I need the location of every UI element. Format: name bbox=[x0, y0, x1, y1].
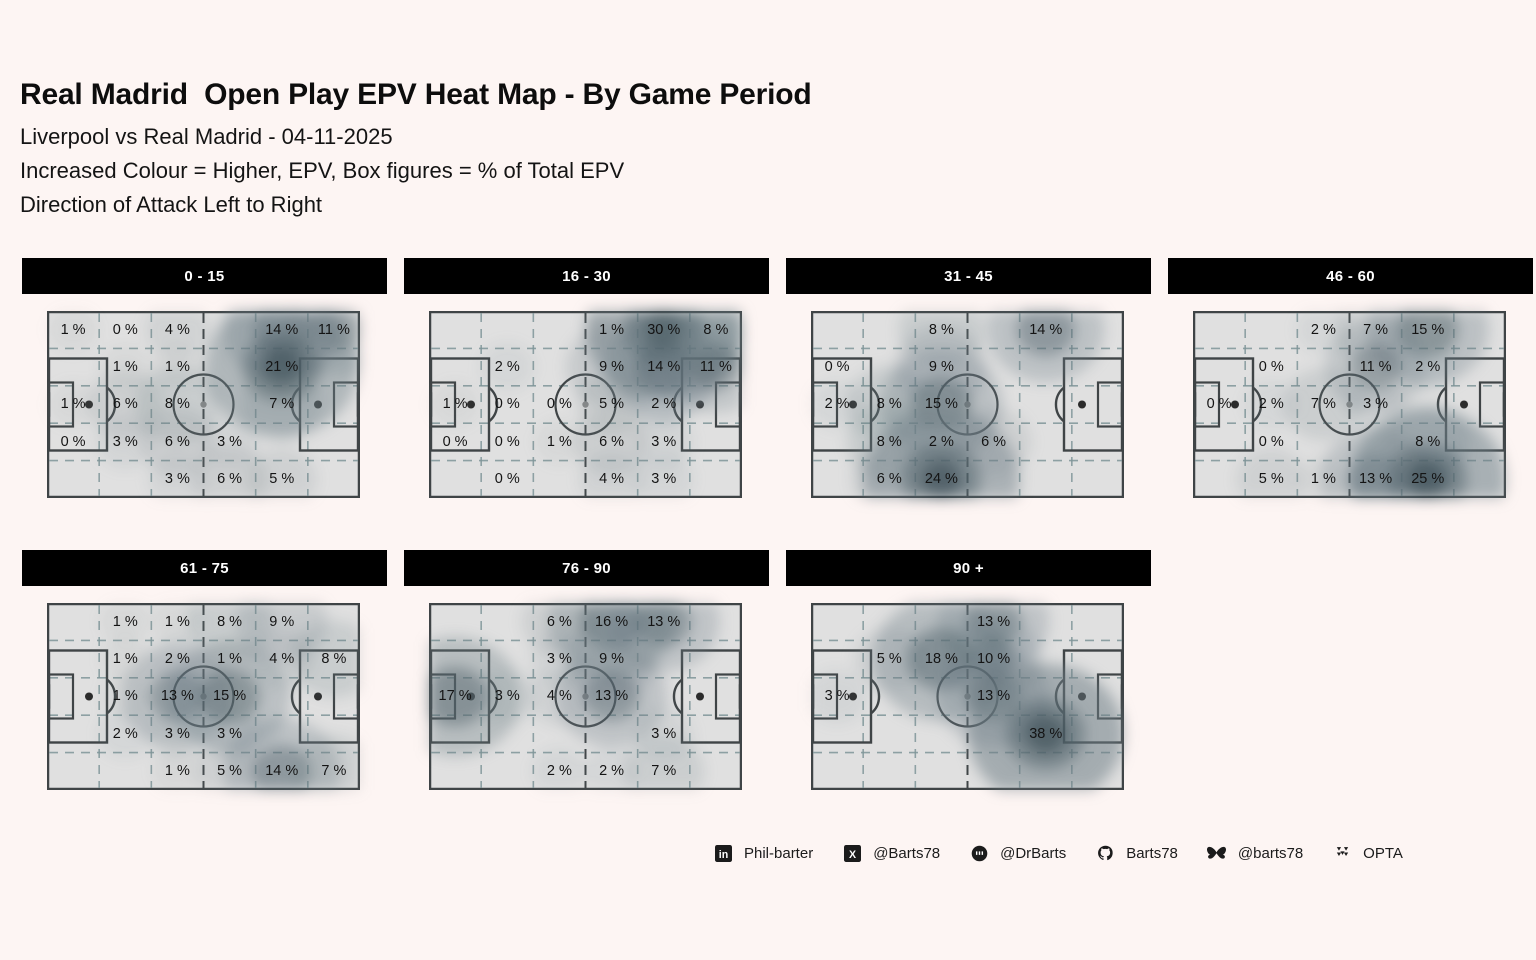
heatmap-panel: 31 - 458 %14 %0 %9 %2 %8 %15 %8 %2 %6 %6… bbox=[786, 258, 1151, 542]
footer-credit-label: Barts78 bbox=[1126, 845, 1178, 862]
epv-value-grid: 1 %0 %4 %14 %11 %1 %1 %21 %1 %6 %8 %7 %0… bbox=[47, 311, 360, 498]
epv-cell: 2 % bbox=[638, 386, 690, 423]
epv-cell: 1 % bbox=[99, 603, 151, 640]
epv-cell: 9 % bbox=[586, 348, 638, 385]
panel-period-banner: 31 - 45 bbox=[786, 258, 1151, 294]
epv-cell: 6 % bbox=[968, 423, 1020, 460]
epv-cell bbox=[690, 715, 742, 752]
epv-cell: 1 % bbox=[1297, 461, 1349, 498]
heatmap-panel: 61 - 751 %1 %8 %9 %1 %2 %1 %4 %8 %1 %13 … bbox=[22, 550, 387, 834]
epv-cell bbox=[308, 348, 360, 385]
epv-cell bbox=[811, 423, 863, 460]
epv-cell bbox=[429, 311, 481, 348]
page-title: Real Madrid Open Play EPV Heat Map - By … bbox=[20, 78, 812, 112]
epv-cell bbox=[1402, 386, 1454, 423]
epv-cell bbox=[429, 461, 481, 498]
epv-cell bbox=[968, 311, 1020, 348]
panel-period-banner: 90 + bbox=[786, 550, 1151, 586]
epv-cell bbox=[47, 640, 99, 677]
epv-cell: 14 % bbox=[256, 753, 308, 790]
epv-cell: 3 % bbox=[811, 678, 863, 715]
panel-row-2: 61 - 751 %1 %8 %9 %1 %2 %1 %4 %8 %1 %13 … bbox=[0, 550, 1536, 842]
epv-cell bbox=[204, 311, 256, 348]
epv-cell bbox=[863, 311, 915, 348]
epv-cell bbox=[308, 386, 360, 423]
epv-cell bbox=[1193, 423, 1245, 460]
epv-cell bbox=[1020, 678, 1072, 715]
epv-cell bbox=[690, 678, 742, 715]
epv-cell bbox=[1072, 423, 1124, 460]
epv-cell bbox=[308, 461, 360, 498]
epv-cell bbox=[533, 715, 585, 752]
epv-cell bbox=[429, 348, 481, 385]
epv-cell bbox=[204, 386, 256, 423]
footer-credit-item[interactable]: @barts78 bbox=[1204, 845, 1329, 862]
panel-row-1: 0 - 151 %0 %4 %14 %11 %1 %1 %21 %1 %6 %8… bbox=[0, 258, 1536, 550]
epv-cell bbox=[811, 311, 863, 348]
epv-cell: 13 % bbox=[968, 603, 1020, 640]
pitch-container: 8 %14 %0 %9 %2 %8 %15 %8 %2 %6 %6 %24 % bbox=[786, 294, 1151, 542]
epv-cell: 2 % bbox=[811, 386, 863, 423]
epv-cell bbox=[1454, 348, 1506, 385]
epv-cell: 1 % bbox=[99, 640, 151, 677]
footer-credit-label: @barts78 bbox=[1238, 845, 1303, 862]
epv-cell: 3 % bbox=[481, 678, 533, 715]
epv-cell: 3 % bbox=[638, 423, 690, 460]
epv-cell bbox=[1454, 386, 1506, 423]
epv-cell bbox=[586, 715, 638, 752]
epv-cell bbox=[811, 461, 863, 498]
linkedin-icon: in bbox=[710, 845, 736, 862]
epv-value-grid: 2 %7 %15 %0 %11 %2 %0 %2 %7 %3 %0 %8 %5 … bbox=[1193, 311, 1506, 498]
epv-cell bbox=[863, 603, 915, 640]
epv-cell: 1 % bbox=[204, 640, 256, 677]
epv-cell: 5 % bbox=[863, 640, 915, 677]
epv-cell bbox=[915, 678, 967, 715]
epv-cell: 0 % bbox=[811, 348, 863, 385]
epv-cell bbox=[533, 348, 585, 385]
epv-cell: 15 % bbox=[204, 678, 256, 715]
pitch-container: 1 %30 %8 %2 %9 %14 %11 %1 %0 %0 %5 %2 %0… bbox=[404, 294, 769, 542]
epv-cell bbox=[308, 423, 360, 460]
epv-cell: 1 % bbox=[99, 348, 151, 385]
epv-cell bbox=[1072, 603, 1124, 640]
epv-cell bbox=[811, 753, 863, 790]
epv-cell: 1 % bbox=[429, 386, 481, 423]
bluesky-butterfly-icon bbox=[1204, 846, 1230, 862]
page-header: Real Madrid Open Play EPV Heat Map - By … bbox=[20, 78, 812, 222]
github-icon bbox=[1092, 845, 1118, 862]
epv-cell bbox=[968, 715, 1020, 752]
subtitle-direction: Direction of Attack Left to Right bbox=[20, 188, 812, 222]
epv-cell: 4 % bbox=[151, 311, 203, 348]
epv-cell: 0 % bbox=[1245, 348, 1297, 385]
epv-value-grid: 8 %14 %0 %9 %2 %8 %15 %8 %2 %6 %6 %24 % bbox=[811, 311, 1124, 498]
epv-cell bbox=[308, 715, 360, 752]
footer-credit-item[interactable]: OPTA bbox=[1329, 845, 1403, 862]
epv-cell: 1 % bbox=[586, 311, 638, 348]
epv-cell: 0 % bbox=[429, 423, 481, 460]
epv-cell: 18 % bbox=[915, 640, 967, 677]
epv-cell: 1 % bbox=[47, 386, 99, 423]
epv-cell bbox=[863, 348, 915, 385]
epv-cell: 9 % bbox=[256, 603, 308, 640]
epv-cell bbox=[47, 603, 99, 640]
pitch-container: 1 %1 %8 %9 %1 %2 %1 %4 %8 %1 %13 %15 %2 … bbox=[22, 586, 387, 834]
epv-cell bbox=[256, 423, 308, 460]
epv-cell: 1 % bbox=[151, 603, 203, 640]
epv-cell bbox=[204, 348, 256, 385]
epv-cell: 8 % bbox=[690, 311, 742, 348]
epv-cell: 13 % bbox=[586, 678, 638, 715]
epv-cell bbox=[638, 678, 690, 715]
epv-cell: 24 % bbox=[915, 461, 967, 498]
epv-cell: 2 % bbox=[1297, 311, 1349, 348]
epv-cell bbox=[811, 603, 863, 640]
epv-cell bbox=[1297, 348, 1349, 385]
epv-cell: 9 % bbox=[915, 348, 967, 385]
epv-cell: 13 % bbox=[968, 678, 1020, 715]
epv-cell bbox=[1193, 461, 1245, 498]
epv-cell bbox=[481, 640, 533, 677]
epv-cell: 1 % bbox=[99, 678, 151, 715]
epv-cell: 11 % bbox=[690, 348, 742, 385]
subtitle-match: Liverpool vs Real Madrid - 04-11-2025 bbox=[20, 120, 812, 154]
epv-cell: 0 % bbox=[481, 386, 533, 423]
epv-cell: 7 % bbox=[1350, 311, 1402, 348]
epv-cell: 2 % bbox=[99, 715, 151, 752]
footer-credit-item[interactable]: Barts78 bbox=[1092, 845, 1204, 862]
epv-cell bbox=[690, 461, 742, 498]
epv-cell: 14 % bbox=[1020, 311, 1072, 348]
epv-cell bbox=[811, 640, 863, 677]
epv-cell: 6 % bbox=[99, 386, 151, 423]
epv-cell: 3 % bbox=[204, 423, 256, 460]
epv-cell: 15 % bbox=[915, 386, 967, 423]
epv-cell: 0 % bbox=[47, 423, 99, 460]
heatmap-panel-grid: 0 - 151 %0 %4 %14 %11 %1 %1 %21 %1 %6 %8… bbox=[0, 258, 1536, 842]
heatmap-panel: 90 +13 %5 %18 %10 %3 %13 %38 % bbox=[786, 550, 1151, 834]
epv-cell: 13 % bbox=[1350, 461, 1402, 498]
epv-cell bbox=[915, 753, 967, 790]
epv-cell: 11 % bbox=[308, 311, 360, 348]
epv-cell bbox=[99, 753, 151, 790]
epv-cell: 13 % bbox=[638, 603, 690, 640]
epv-cell: 5 % bbox=[1245, 461, 1297, 498]
pitch-container: 1 %0 %4 %14 %11 %1 %1 %21 %1 %6 %8 %7 %0… bbox=[22, 294, 387, 542]
epv-cell: 1 % bbox=[533, 423, 585, 460]
epv-cell: 9 % bbox=[586, 640, 638, 677]
footer-credits: inPhil-barterX@Barts78@DrBartsBarts78@ba… bbox=[710, 845, 1403, 862]
epv-cell bbox=[1072, 311, 1124, 348]
subtitle-legend: Increased Colour = Higher, EPV, Box figu… bbox=[20, 154, 812, 188]
epv-cell bbox=[308, 678, 360, 715]
epv-cell bbox=[1020, 753, 1072, 790]
epv-cell bbox=[968, 386, 1020, 423]
epv-cell bbox=[1454, 423, 1506, 460]
epv-cell bbox=[429, 603, 481, 640]
epv-cell bbox=[1020, 423, 1072, 460]
epv-cell bbox=[690, 603, 742, 640]
epv-cell bbox=[1454, 311, 1506, 348]
epv-cell bbox=[256, 678, 308, 715]
epv-cell bbox=[1072, 753, 1124, 790]
epv-cell bbox=[690, 640, 742, 677]
epv-cell bbox=[47, 753, 99, 790]
epv-cell: 11 % bbox=[1350, 348, 1402, 385]
epv-cell bbox=[256, 715, 308, 752]
epv-cell bbox=[1020, 461, 1072, 498]
epv-cell: 2 % bbox=[1402, 348, 1454, 385]
epv-cell bbox=[1454, 461, 1506, 498]
epv-cell: 7 % bbox=[1297, 386, 1349, 423]
epv-cell: 1 % bbox=[151, 348, 203, 385]
epv-cell: 3 % bbox=[151, 461, 203, 498]
epv-cell: 8 % bbox=[863, 423, 915, 460]
epv-cell bbox=[481, 715, 533, 752]
epv-value-grid: 13 %5 %18 %10 %3 %13 %38 % bbox=[811, 603, 1124, 790]
epv-cell bbox=[1072, 640, 1124, 677]
epv-cell: 30 % bbox=[638, 311, 690, 348]
epv-value-grid: 1 %1 %8 %9 %1 %2 %1 %4 %8 %1 %13 %15 %2 … bbox=[47, 603, 360, 790]
epv-cell: 8 % bbox=[308, 640, 360, 677]
epv-cell bbox=[863, 678, 915, 715]
epv-cell: 16 % bbox=[586, 603, 638, 640]
epv-cell: 2 % bbox=[151, 640, 203, 677]
pitch-container: 13 %5 %18 %10 %3 %13 %38 % bbox=[786, 586, 1151, 834]
epv-cell: 8 % bbox=[1402, 423, 1454, 460]
footer-credit-label: @DrBarts bbox=[1000, 845, 1066, 862]
epv-cell: 5 % bbox=[204, 753, 256, 790]
svg-text:in: in bbox=[718, 849, 727, 861]
epv-cell: 3 % bbox=[1350, 386, 1402, 423]
epv-cell bbox=[1072, 678, 1124, 715]
epv-cell bbox=[1020, 640, 1072, 677]
epv-cell bbox=[811, 715, 863, 752]
epv-cell bbox=[1350, 423, 1402, 460]
epv-value-grid: 1 %30 %8 %2 %9 %14 %11 %1 %0 %0 %5 %2 %0… bbox=[429, 311, 742, 498]
epv-cell bbox=[1072, 386, 1124, 423]
footer-credit-label: @Barts78 bbox=[873, 845, 940, 862]
heatmap-panel: 76 - 906 %16 %13 %3 %9 %17 %3 %4 %13 %3 … bbox=[404, 550, 769, 834]
epv-cell bbox=[690, 386, 742, 423]
epv-cell bbox=[863, 715, 915, 752]
epv-cell: 8 % bbox=[863, 386, 915, 423]
footer-credit-label: Phil-barter bbox=[744, 845, 813, 862]
epv-cell: 14 % bbox=[256, 311, 308, 348]
footer-credit-item[interactable]: X@Barts78 bbox=[839, 845, 966, 862]
epv-cell: 3 % bbox=[204, 715, 256, 752]
epv-cell: 3 % bbox=[151, 715, 203, 752]
heatmap-panel: 16 - 301 %30 %8 %2 %9 %14 %11 %1 %0 %0 %… bbox=[404, 258, 769, 542]
epv-cell bbox=[308, 603, 360, 640]
epv-cell: 7 % bbox=[256, 386, 308, 423]
epv-cell bbox=[1072, 461, 1124, 498]
epv-cell: 8 % bbox=[915, 311, 967, 348]
epv-cell bbox=[1072, 715, 1124, 752]
epv-cell: 10 % bbox=[968, 640, 1020, 677]
epv-cell: 2 % bbox=[586, 753, 638, 790]
epv-cell: 3 % bbox=[99, 423, 151, 460]
opta-icon bbox=[1329, 846, 1355, 861]
epv-cell bbox=[1193, 348, 1245, 385]
epv-cell: 8 % bbox=[151, 386, 203, 423]
epv-cell: 3 % bbox=[638, 715, 690, 752]
epv-cell: 0 % bbox=[99, 311, 151, 348]
epv-cell: 17 % bbox=[429, 678, 481, 715]
panel-period-banner: 76 - 90 bbox=[404, 550, 769, 586]
epv-cell bbox=[47, 348, 99, 385]
epv-cell: 0 % bbox=[1245, 423, 1297, 460]
epv-cell bbox=[429, 753, 481, 790]
epv-cell: 6 % bbox=[151, 423, 203, 460]
epv-cell bbox=[429, 640, 481, 677]
epv-cell bbox=[968, 753, 1020, 790]
panel-period-banner: 0 - 15 bbox=[22, 258, 387, 294]
heatmap-panel: 46 - 602 %7 %15 %0 %11 %2 %0 %2 %7 %3 %0… bbox=[1168, 258, 1533, 542]
epv-cell: 7 % bbox=[308, 753, 360, 790]
epv-cell: 2 % bbox=[481, 348, 533, 385]
epv-cell bbox=[690, 423, 742, 460]
epv-cell: 0 % bbox=[1193, 386, 1245, 423]
epv-cell bbox=[1193, 311, 1245, 348]
epv-cell bbox=[47, 461, 99, 498]
epv-cell: 7 % bbox=[638, 753, 690, 790]
epv-cell: 15 % bbox=[1402, 311, 1454, 348]
epv-cell bbox=[533, 311, 585, 348]
epv-cell: 13 % bbox=[151, 678, 203, 715]
epv-cell bbox=[1072, 348, 1124, 385]
epv-cell: 8 % bbox=[204, 603, 256, 640]
heatmap-panel: 0 - 151 %0 %4 %14 %11 %1 %1 %21 %1 %6 %8… bbox=[22, 258, 387, 542]
epv-cell: 4 % bbox=[533, 678, 585, 715]
epv-cell bbox=[915, 715, 967, 752]
epv-cell bbox=[481, 311, 533, 348]
epv-cell: 0 % bbox=[481, 461, 533, 498]
panel-period-banner: 61 - 75 bbox=[22, 550, 387, 586]
epv-cell: 3 % bbox=[533, 640, 585, 677]
epv-cell bbox=[1245, 311, 1297, 348]
epv-cell: 3 % bbox=[638, 461, 690, 498]
epv-cell bbox=[1297, 423, 1349, 460]
epv-cell bbox=[968, 348, 1020, 385]
epv-cell: 5 % bbox=[586, 386, 638, 423]
epv-cell: 38 % bbox=[1020, 715, 1072, 752]
epv-cell: 5 % bbox=[256, 461, 308, 498]
epv-cell: 0 % bbox=[481, 423, 533, 460]
epv-cell: 2 % bbox=[915, 423, 967, 460]
epv-value-grid: 6 %16 %13 %3 %9 %17 %3 %4 %13 %3 %2 %2 %… bbox=[429, 603, 742, 790]
epv-cell: 6 % bbox=[586, 423, 638, 460]
epv-cell bbox=[863, 753, 915, 790]
x-twitter-icon: X bbox=[839, 845, 865, 862]
epv-cell bbox=[47, 715, 99, 752]
epv-cell: 6 % bbox=[863, 461, 915, 498]
epv-cell: 4 % bbox=[586, 461, 638, 498]
footer-credit-item[interactable]: @DrBarts bbox=[966, 845, 1092, 862]
epv-cell bbox=[481, 753, 533, 790]
epv-cell bbox=[47, 678, 99, 715]
epv-cell bbox=[968, 461, 1020, 498]
epv-cell: 4 % bbox=[256, 640, 308, 677]
epv-cell: 0 % bbox=[533, 386, 585, 423]
epv-cell: 21 % bbox=[256, 348, 308, 385]
epv-cell bbox=[638, 640, 690, 677]
epv-cell: 2 % bbox=[533, 753, 585, 790]
epv-cell: 2 % bbox=[1245, 386, 1297, 423]
epv-cell: 25 % bbox=[1402, 461, 1454, 498]
footer-credit-label: OPTA bbox=[1363, 845, 1403, 862]
epv-cell: 14 % bbox=[638, 348, 690, 385]
epv-cell bbox=[1020, 603, 1072, 640]
epv-cell bbox=[481, 603, 533, 640]
panel-period-banner: 16 - 30 bbox=[404, 258, 769, 294]
epv-cell bbox=[690, 753, 742, 790]
pitch-container: 2 %7 %15 %0 %11 %2 %0 %2 %7 %3 %0 %8 %5 … bbox=[1168, 294, 1533, 542]
pitch-container: 6 %16 %13 %3 %9 %17 %3 %4 %13 %3 %2 %2 %… bbox=[404, 586, 769, 834]
mastodon-icon bbox=[966, 845, 992, 862]
epv-cell: 6 % bbox=[533, 603, 585, 640]
epv-cell bbox=[429, 715, 481, 752]
epv-cell bbox=[533, 461, 585, 498]
epv-cell bbox=[99, 461, 151, 498]
epv-cell: 1 % bbox=[151, 753, 203, 790]
epv-cell bbox=[1020, 386, 1072, 423]
panel-period-banner: 46 - 60 bbox=[1168, 258, 1533, 294]
epv-cell bbox=[915, 603, 967, 640]
epv-cell: 1 % bbox=[47, 311, 99, 348]
footer-credit-item[interactable]: inPhil-barter bbox=[710, 845, 839, 862]
epv-cell bbox=[1020, 348, 1072, 385]
epv-cell: 6 % bbox=[204, 461, 256, 498]
svg-text:X: X bbox=[849, 849, 856, 861]
